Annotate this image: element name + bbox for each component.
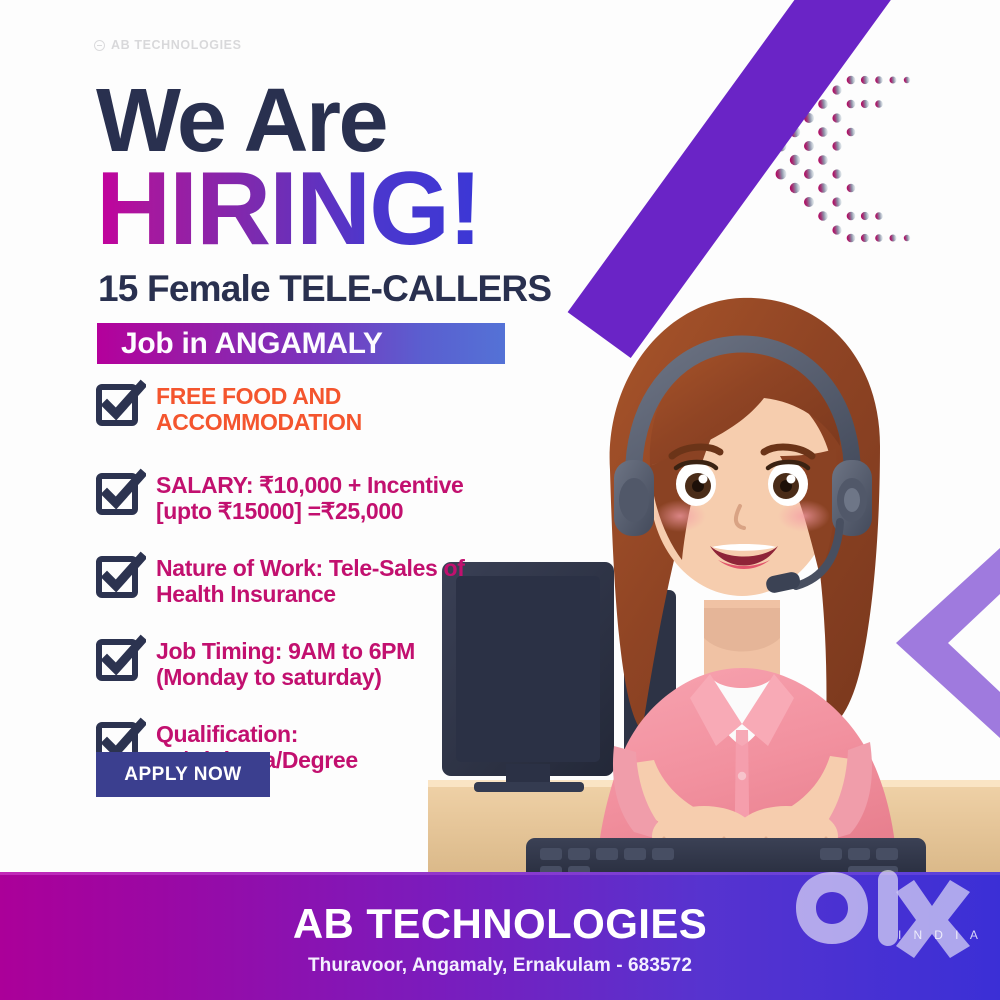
checkbox-checked-icon <box>96 637 140 681</box>
list-item-line2: Health Insurance <box>156 581 336 607</box>
headline-line2: HIRING! <box>96 160 481 259</box>
brand-watermark-label: AB TECHNOLOGIES <box>111 38 242 52</box>
list-item: SALARY: ₹10,000 + Incentive [upto ₹15000… <box>96 469 566 524</box>
checkbox-checked-icon <box>96 554 140 598</box>
benefits-list: FREE FOOD AND ACCOMMODATION SALARY: ₹10,… <box>96 380 566 773</box>
list-item-text: SALARY: ₹10,000 + Incentive [upto ₹15000… <box>156 469 464 524</box>
checkbox-checked-icon <box>96 471 140 515</box>
apply-now-label: APPLY NOW <box>124 764 241 786</box>
list-item-line1: Qualification: <box>156 721 298 747</box>
headline-subtitle: 15 Female TELE-CALLERS <box>98 268 551 310</box>
list-item-line1: Nature of Work: Tele-Sales of <box>156 555 465 581</box>
footer-company-name: AB TECHNOLOGIES <box>293 900 707 948</box>
list-item: Job Timing: 9AM to 6PM (Monday to saturd… <box>96 635 566 690</box>
footer-banner: AB TECHNOLOGIES Thuravoor, Angamaly, Ern… <box>0 872 1000 1000</box>
hiring-poster: AB TECHNOLOGIES <box>0 0 1000 1000</box>
location-banner: Job in ANGAMALY <box>97 323 505 364</box>
brand-watermark: AB TECHNOLOGIES <box>94 38 242 52</box>
list-item: Nature of Work: Tele-Sales of Health Ins… <box>96 552 566 607</box>
circle-logo-icon <box>94 40 105 51</box>
list-item-text: FREE FOOD AND ACCOMMODATION <box>156 380 362 435</box>
list-item: FREE FOOD AND ACCOMMODATION <box>96 380 566 435</box>
list-item-text: Job Timing: 9AM to 6PM (Monday to saturd… <box>156 635 415 690</box>
footer-address: Thuravoor, Angamaly, Ernakulam - 683572 <box>308 955 692 977</box>
apply-now-button[interactable]: APPLY NOW <box>96 752 270 797</box>
list-item-line1: FREE FOOD AND <box>156 383 341 409</box>
list-item-line1: Job Timing: 9AM to 6PM <box>156 638 415 664</box>
olx-india-label: I N D I A <box>898 928 982 942</box>
checkbox-checked-icon <box>96 382 140 426</box>
list-item-line2: (Monday to saturday) <box>156 664 382 690</box>
list-item-text: Nature of Work: Tele-Sales of Health Ins… <box>156 552 465 607</box>
list-item-line2: [upto ₹15000] =₹25,000 <box>156 498 403 524</box>
list-item-line1: SALARY: ₹10,000 + Incentive <box>156 472 464 498</box>
list-item-line2: ACCOMMODATION <box>156 409 362 435</box>
location-banner-label: Job in ANGAMALY <box>121 327 383 361</box>
